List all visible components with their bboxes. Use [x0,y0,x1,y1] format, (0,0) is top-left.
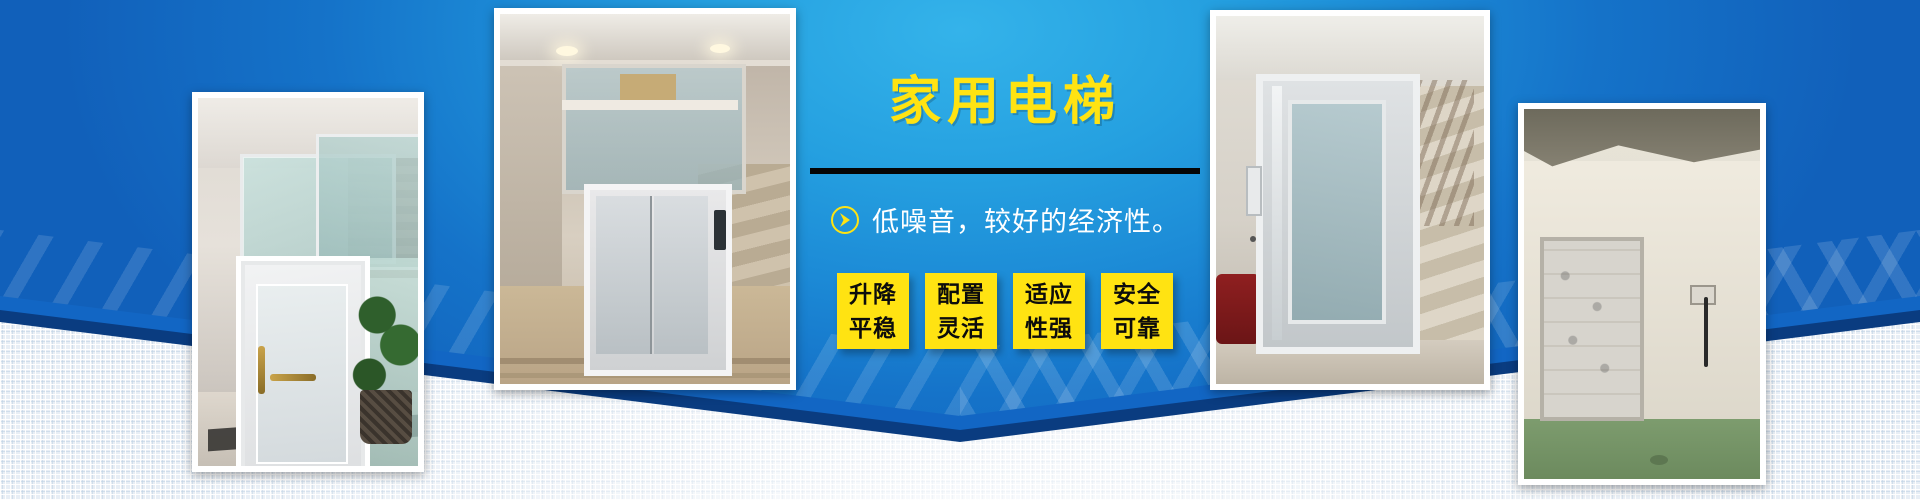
circled-right-arrow-icon [830,205,860,235]
feature-tag-4[interactable]: 安全 可靠 [1101,273,1173,349]
photo-frame-2[interactable] [494,8,796,390]
photo-image-4 [1524,109,1760,479]
home-elevator-banner: 家用电梯 低噪音，较好的经济性。 升降 平稳 配置 灵活 适应 性强 [0,0,1920,500]
feature-tag-1[interactable]: 升降 平稳 [837,273,909,349]
subtitle-text: 低噪音，较好的经济性。 [872,200,1180,239]
photo-frame-1[interactable] [192,92,424,472]
title-divider [810,168,1200,174]
page-title: 家用电梯 [800,76,1210,128]
feature-tag-1-line1: 升降 [849,277,897,311]
feature-tag-list: 升降 平稳 配置 灵活 适应 性强 安全 可靠 [800,273,1210,349]
photo-image-1 [198,98,418,466]
feature-tag-3-line2: 性强 [1025,311,1073,345]
feature-tag-2-line1: 配置 [937,277,985,311]
subtitle-row: 低噪音，较好的经济性。 [800,200,1210,239]
photo-frame-4[interactable] [1518,103,1766,485]
feature-tag-3[interactable]: 适应 性强 [1013,273,1085,349]
feature-tag-1-line2: 平稳 [849,311,897,345]
banner-content: 家用电梯 低噪音，较好的经济性。 升降 平稳 配置 灵活 适应 性强 [800,0,1210,500]
feature-tag-4-line2: 可靠 [1113,311,1161,345]
feature-tag-2-line2: 灵活 [937,311,985,345]
photo-frame-3[interactable] [1210,10,1490,390]
feature-tag-4-line1: 安全 [1113,277,1161,311]
photo-image-3 [1216,16,1484,384]
feature-tag-2[interactable]: 配置 灵活 [925,273,997,349]
feature-tag-3-line1: 适应 [1025,277,1073,311]
photo-image-2 [500,14,790,384]
